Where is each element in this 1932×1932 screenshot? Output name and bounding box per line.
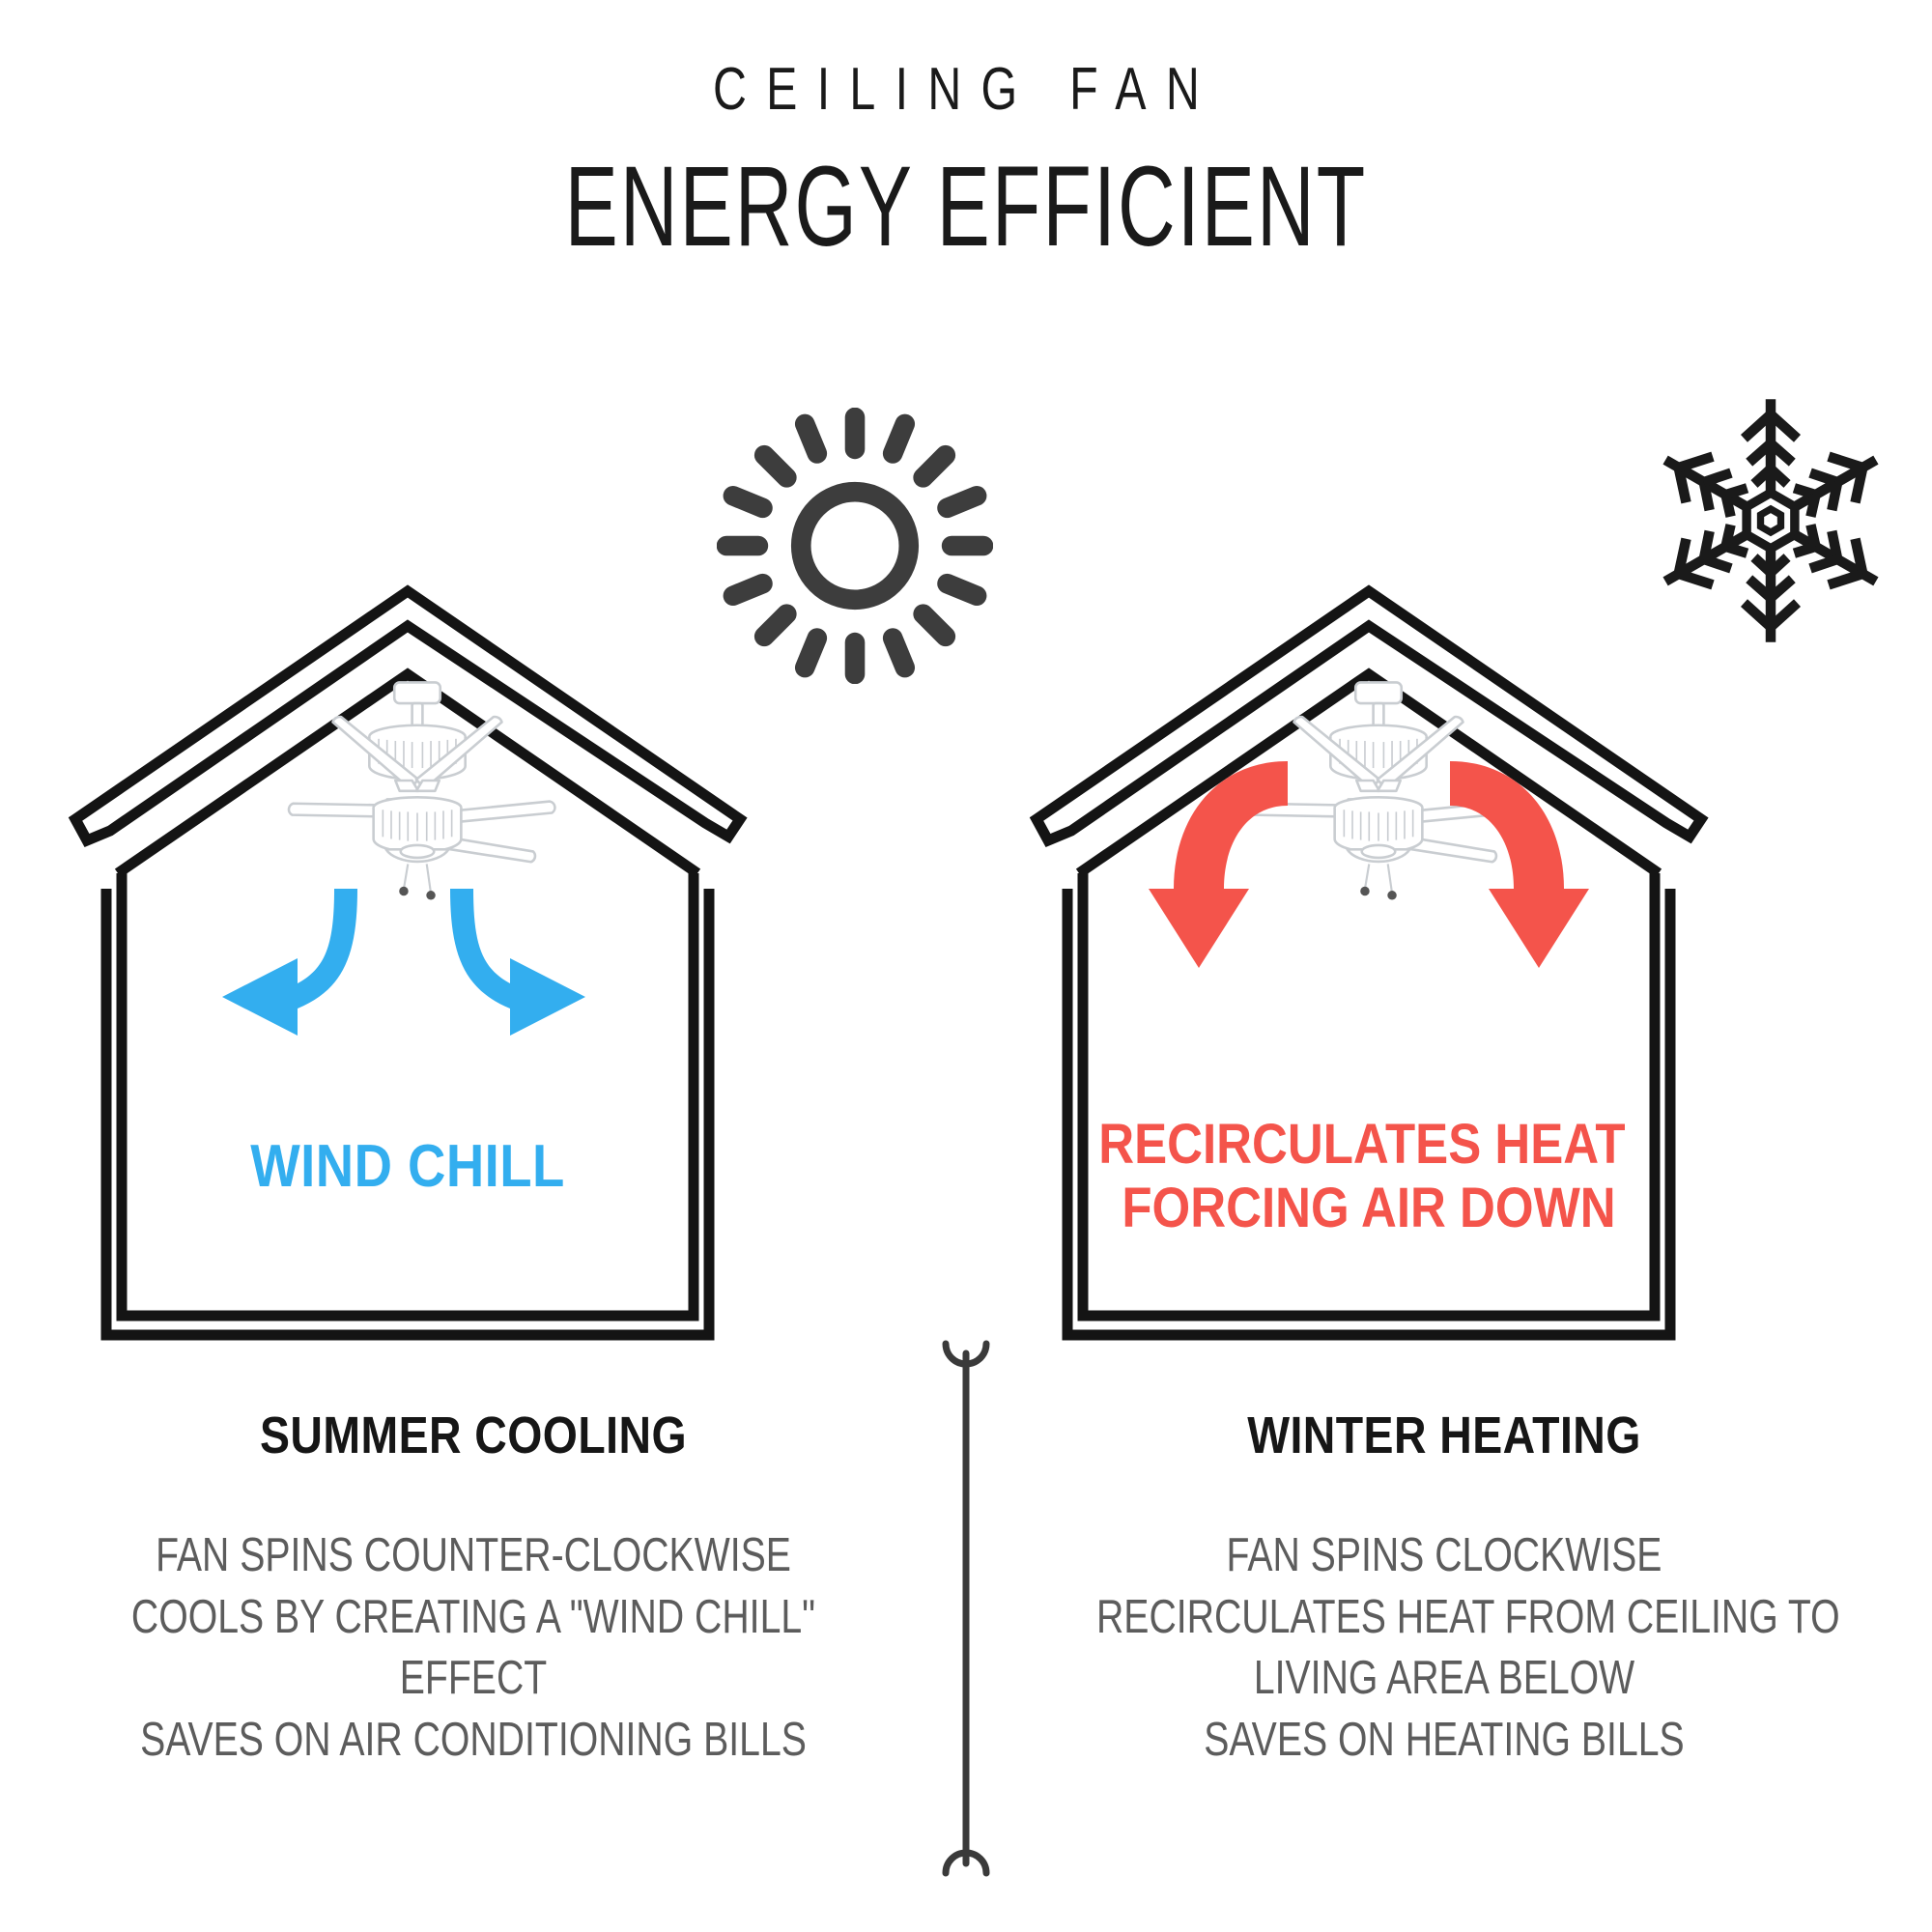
winter-airflow-label: RECIRCULATES HEAT FORCING AIR DOWN bbox=[1098, 1113, 1638, 1239]
summer-caption-line-3: EFFECT bbox=[126, 1648, 821, 1710]
page-title: CEILING FAN ENERGY EFFICIENT bbox=[0, 58, 1932, 273]
summer-caption-body: FAN SPINS COUNTER-CLOCKWISE COOLS BY CRE… bbox=[126, 1525, 821, 1772]
winter-caption-body: FAN SPINS CLOCKWISE RECIRCULATES HEAT FR… bbox=[1096, 1525, 1792, 1772]
winter-caption-line-1: FAN SPINS CLOCKWISE bbox=[1096, 1525, 1792, 1587]
winter-scene: RECIRCULATES HEAT FORCING AIR DOWN bbox=[1029, 599, 1879, 1372]
summer-airflow-label: WIND CHILL bbox=[250, 1133, 565, 1200]
center-divider bbox=[930, 1338, 1002, 1879]
summer-caption-title: SUMMER COOLING bbox=[99, 1406, 847, 1465]
ceiling-fan-summer bbox=[289, 682, 554, 898]
winter-airflow-label-line-1: RECIRCULATES HEAT bbox=[1098, 1113, 1625, 1176]
summer-airflow-label-line: WIND CHILL bbox=[250, 1133, 565, 1200]
winter-caption-line-2: RECIRCULATES HEAT FROM CEILING TO bbox=[1096, 1587, 1792, 1649]
summer-caption-line-4: SAVES ON AIR CONDITIONING BILLS bbox=[126, 1710, 821, 1772]
summer-caption-block: SUMMER COOLING FAN SPINS COUNTER-CLOCKWI… bbox=[39, 1406, 908, 1772]
title-headline: ENERGY EFFICIENT bbox=[290, 142, 1642, 273]
winter-airflow-label-line-2: FORCING AIR DOWN bbox=[1122, 1177, 1615, 1239]
summer-caption-line-1: FAN SPINS COUNTER-CLOCKWISE bbox=[126, 1525, 821, 1587]
winter-caption-block: WINTER HEATING FAN SPINS CLOCKWISE RECIR… bbox=[1009, 1406, 1879, 1772]
summer-scene: WIND CHILL bbox=[68, 599, 918, 1372]
airflow-arrows-summer bbox=[222, 889, 585, 1036]
summer-caption-line-2: COOLS BY CREATING A "WIND CHILL" bbox=[126, 1587, 821, 1649]
winter-caption-line-4: SAVES ON HEATING BILLS bbox=[1096, 1710, 1792, 1772]
winter-caption-line-3: LIVING AREA BELOW bbox=[1096, 1648, 1792, 1710]
title-kicker: CEILING FAN bbox=[213, 58, 1719, 121]
winter-caption-title: WINTER HEATING bbox=[1070, 1406, 1818, 1465]
